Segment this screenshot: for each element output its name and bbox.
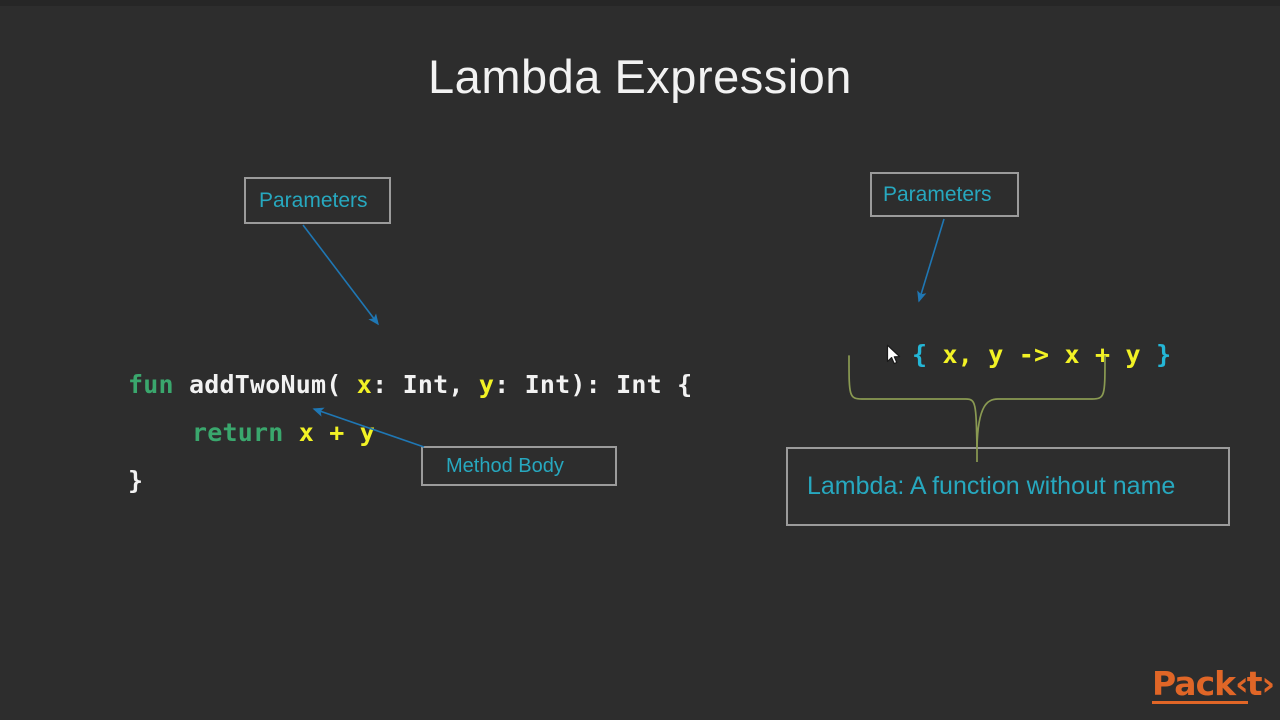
mouse-cursor-icon <box>886 344 904 368</box>
lambda-token-open-brace: { <box>912 340 943 369</box>
code-line-return: return x + y <box>131 389 375 476</box>
code-line-close-brace: } <box>67 437 143 524</box>
callout-lambda-definition[interactable]: Lambda: A function without name <box>786 447 1230 526</box>
code-token-close-brace: } <box>128 466 143 495</box>
callout-parameters-left[interactable]: Parameters <box>244 177 391 224</box>
callout-parameters-right[interactable]: Parameters <box>870 172 1019 217</box>
callout-lambda-definition-label: Lambda: A function without name <box>807 472 1175 501</box>
callout-parameters-left-label: Parameters <box>259 189 368 213</box>
packt-logo-underline <box>1152 701 1248 704</box>
code-token-return-type: : Int): Int { <box>494 370 692 399</box>
packt-logo[interactable]: Pack‹t› <box>1152 668 1252 708</box>
top-edge-strip <box>0 0 1280 6</box>
packt-logo-text: Pack‹t› <box>1152 668 1252 699</box>
code-token-type-int-x: : Int, <box>372 370 479 399</box>
lambda-token-body: x, y -> x + y <box>943 340 1157 369</box>
arrow-parameters-to-signature <box>303 225 378 324</box>
code-token-sum: x + y <box>299 418 375 447</box>
page-title: Lambda Expression <box>0 49 1280 104</box>
lambda-token-close-brace: } <box>1156 340 1171 369</box>
code-token-param-y: y <box>479 370 494 399</box>
callout-parameters-right-label: Parameters <box>883 183 992 207</box>
slide-canvas: Lambda Expression Parameters fun addTwoN… <box>0 0 1280 720</box>
callout-method-body[interactable]: Method Body <box>421 446 617 486</box>
code-token-return: return <box>192 418 299 447</box>
arrow-parameters-to-lambda <box>919 219 944 301</box>
callout-method-body-label: Method Body <box>446 455 564 478</box>
